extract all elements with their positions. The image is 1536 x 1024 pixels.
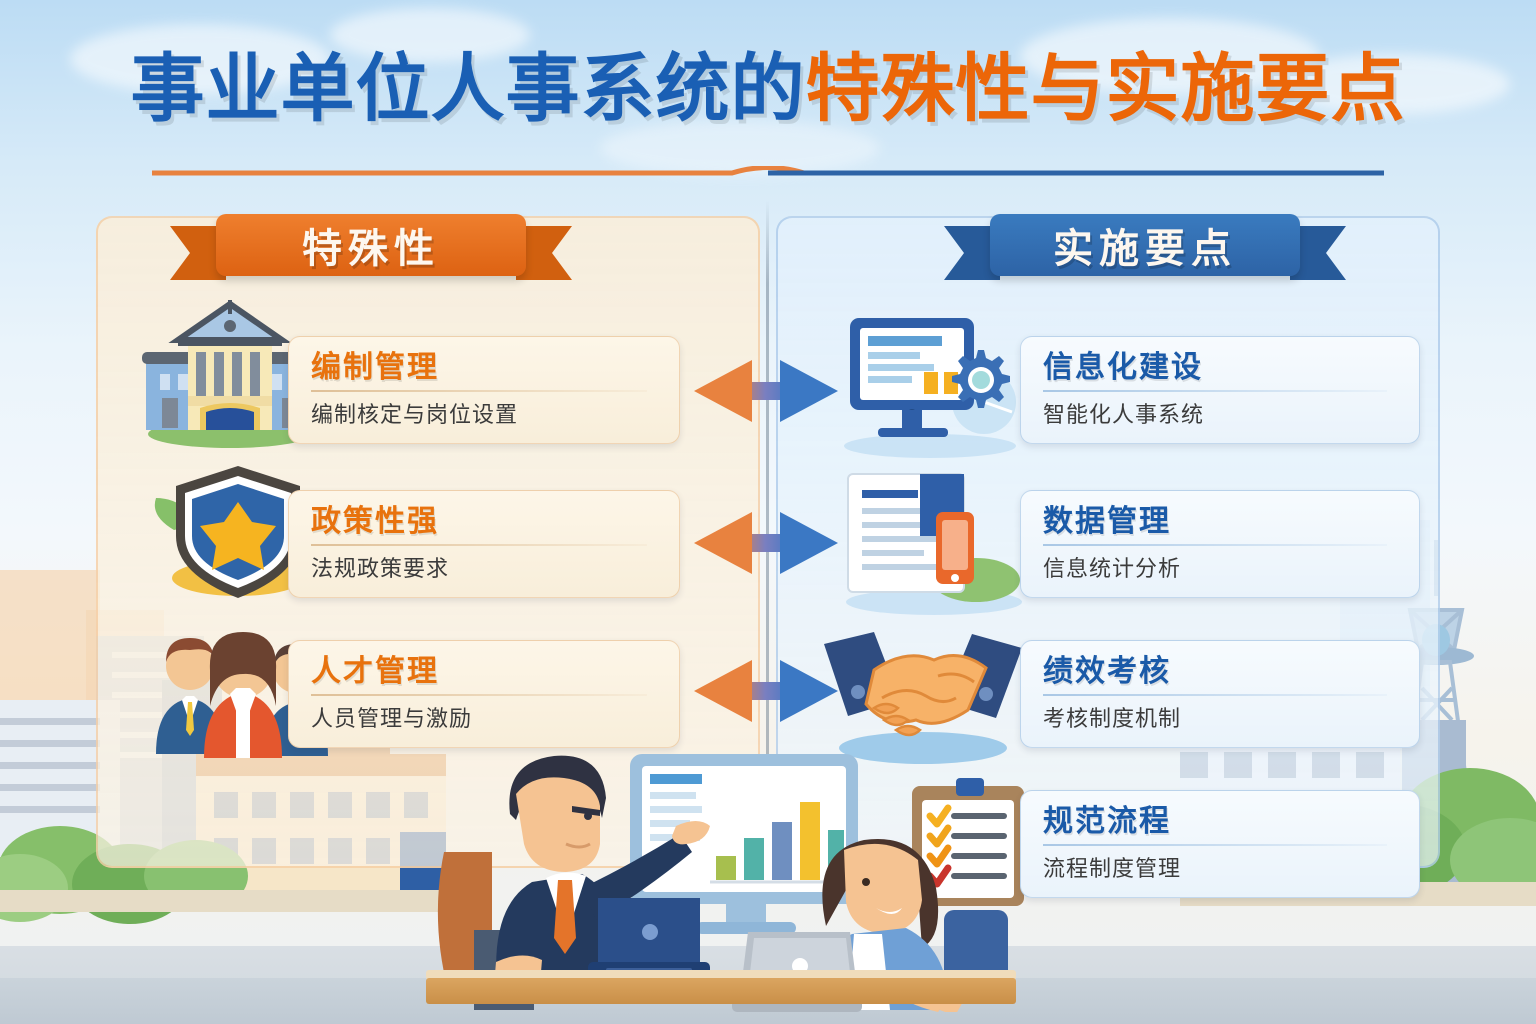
card-left-2-title: 政策性强 — [311, 505, 661, 539]
card-separator — [1043, 544, 1387, 546]
arrow-left-icon — [694, 512, 752, 574]
card-left-2-subtitle: 法规政策要求 — [311, 551, 661, 583]
connector-arrow-1 — [686, 360, 846, 422]
card-right-2-title: 数据管理 — [1043, 505, 1401, 539]
infographic-canvas: 事业单位人事系统的特殊性与实施要点 特殊性 实施要点 — [0, 0, 1536, 1024]
card-right-3-title: 绩效考核 — [1043, 655, 1401, 689]
card-left-3[interactable]: 人才管理 人员管理与激励 — [288, 640, 680, 748]
card-right-1[interactable]: 信息化建设 智能化人事系统 — [1020, 336, 1420, 444]
arrow-left-icon — [694, 660, 752, 722]
card-left-3-title: 人才管理 — [311, 655, 661, 689]
card-separator — [311, 544, 647, 546]
banner-specialties-label: 特殊性 — [302, 216, 440, 274]
arrow-left-icon — [694, 360, 752, 422]
card-right-2-subtitle: 信息统计分析 — [1043, 551, 1401, 583]
card-left-3-subtitle: 人员管理与激励 — [311, 701, 661, 733]
banner-implementation: 实施要点 — [950, 214, 1340, 276]
card-separator — [1043, 844, 1387, 846]
desk-front — [426, 978, 1016, 1004]
card-separator — [1043, 390, 1387, 392]
office-consultation-illustration — [436, 744, 1004, 1024]
monitor-gear-icon — [842, 308, 1020, 458]
page-title-orange: 特殊性与实施要点 — [806, 46, 1406, 132]
page-title: 事业单位人事系统的特殊性与实施要点 — [0, 52, 1536, 126]
connector-arrow-2 — [686, 512, 846, 574]
card-right-4-subtitle: 流程制度管理 — [1043, 851, 1401, 883]
card-left-1-subtitle: 编制核定与岗位设置 — [311, 397, 661, 429]
card-separator — [1043, 694, 1387, 696]
document-data-icon — [840, 468, 1030, 616]
card-right-4-title: 规范流程 — [1043, 805, 1401, 839]
page-title-blue: 事业单位人事系统的 — [131, 46, 806, 132]
card-left-1-title: 编制管理 — [311, 351, 661, 385]
card-left-2[interactable]: 政策性强 法规政策要求 — [288, 490, 680, 598]
arrow-right-icon — [780, 360, 838, 422]
card-right-4[interactable]: 规范流程 流程制度管理 — [1020, 790, 1420, 898]
card-separator — [311, 390, 647, 392]
card-right-3[interactable]: 绩效考核 考核制度机制 — [1020, 640, 1420, 748]
arrow-right-icon — [780, 512, 838, 574]
title-underline — [152, 166, 1384, 176]
card-right-3-subtitle: 考核制度机制 — [1043, 701, 1401, 733]
card-right-1-subtitle: 智能化人事系统 — [1043, 397, 1401, 429]
card-left-1[interactable]: 编制管理 编制核定与岗位设置 — [288, 336, 680, 444]
banner-specialties: 特殊性 — [176, 214, 566, 276]
card-separator — [311, 694, 647, 696]
card-right-2[interactable]: 数据管理 信息统计分析 — [1020, 490, 1420, 598]
banner-implementation-label: 实施要点 — [1053, 216, 1237, 274]
card-right-1-title: 信息化建设 — [1043, 351, 1401, 385]
